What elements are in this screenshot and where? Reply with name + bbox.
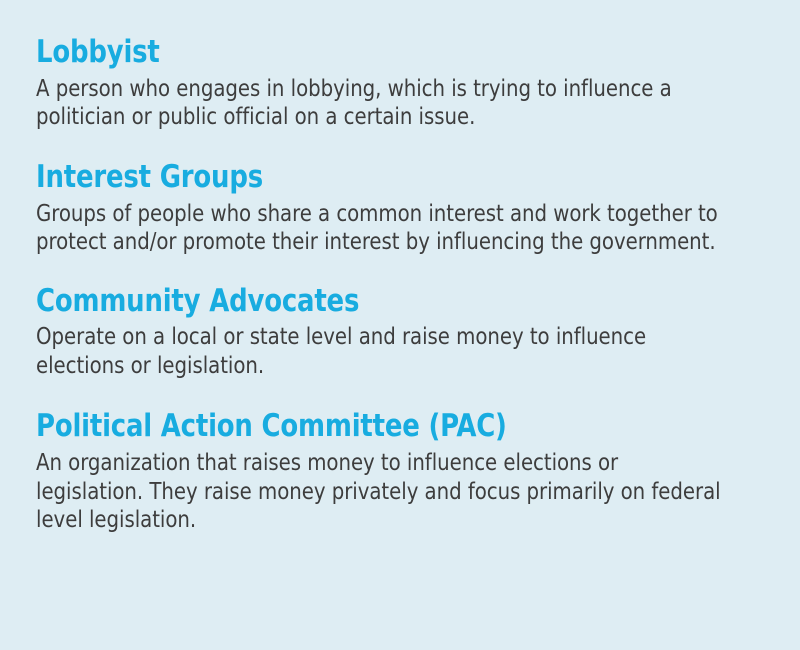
glossary-definition-lobbyist: A person who engages in lobbying, which … — [36, 75, 727, 132]
glossary-term-community-advocates: Community Advocates — [36, 283, 709, 321]
glossary-entry: Community Advocates Operate on a local o… — [36, 283, 760, 381]
glossary-list: Lobbyist A person who engages in lobbyin… — [0, 0, 800, 650]
glossary-definition-community-advocates: Operate on a local or state level and ra… — [36, 323, 727, 380]
glossary-definition-interest-groups: Groups of people who share a common inte… — [36, 200, 727, 257]
glossary-definition-political-action-committee: An organization that raises money to inf… — [36, 449, 727, 535]
glossary-term-political-action-committee: Political Action Committee (PAC) — [36, 408, 709, 446]
glossary-term-interest-groups: Interest Groups — [36, 159, 709, 197]
glossary-entry: Lobbyist A person who engages in lobbyin… — [36, 34, 760, 132]
glossary-term-lobbyist: Lobbyist — [36, 34, 709, 72]
glossary-entry: Interest Groups Groups of people who sha… — [36, 159, 760, 257]
glossary-entry: Political Action Committee (PAC) An orga… — [36, 408, 760, 534]
